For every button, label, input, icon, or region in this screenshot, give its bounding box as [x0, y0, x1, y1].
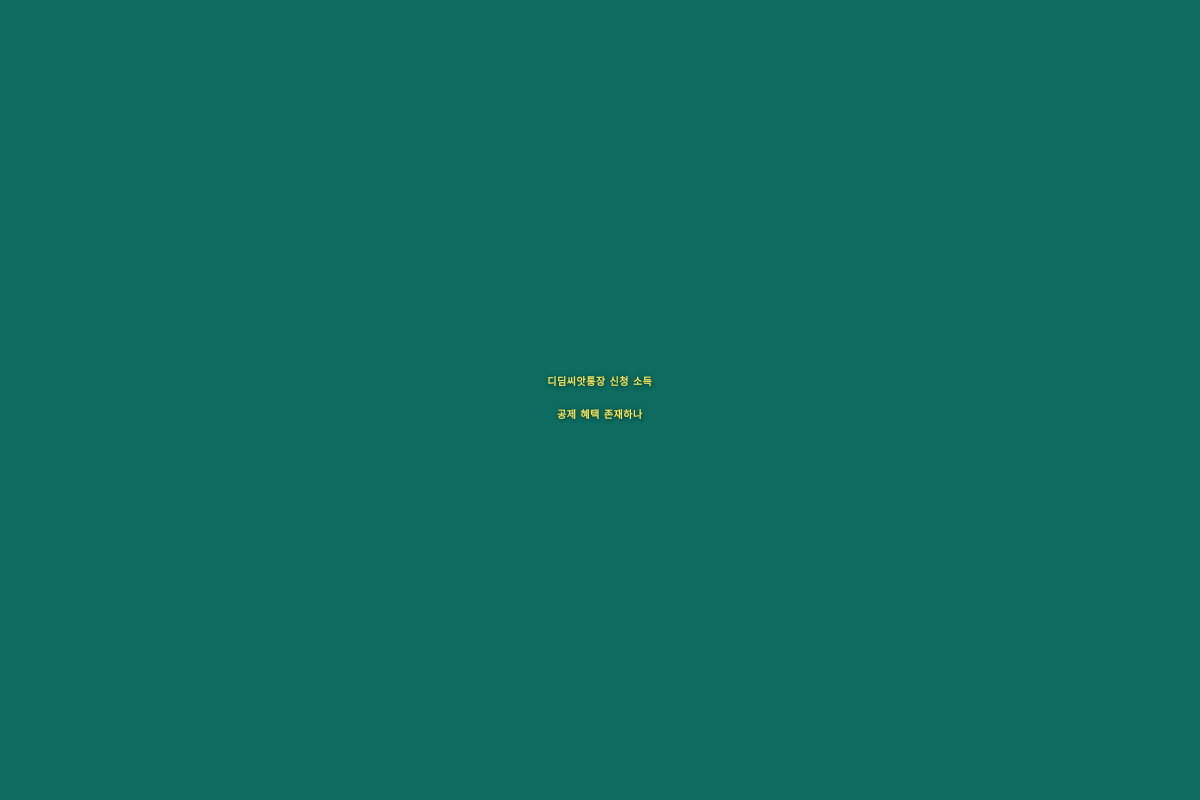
- headline-line-2: 공제 혜택 존재하나: [0, 410, 1200, 421]
- thumbnail-canvas: 디딤씨앗통장 신청 소득 공제 혜택 존재하나: [0, 0, 1200, 800]
- headline-line-1: 디딤씨앗통장 신청 소득: [0, 377, 1200, 388]
- headline-block: 디딤씨앗통장 신청 소득 공제 혜택 존재하나: [0, 377, 1200, 421]
